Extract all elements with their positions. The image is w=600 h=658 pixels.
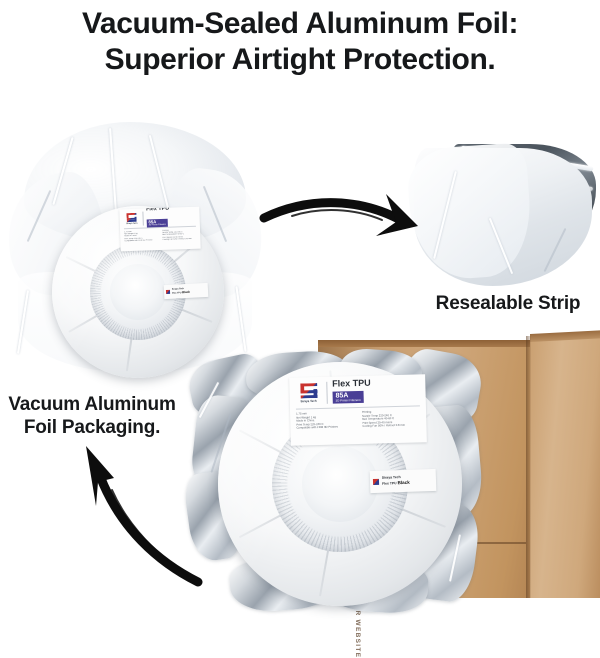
siraya-logo-mark-icon xyxy=(126,213,136,222)
siraya-logo-mark-icon xyxy=(166,290,170,294)
color-sticker-upper: Siraya Tech Flex TPU Black xyxy=(164,283,209,299)
headline-line-1: Vacuum-Sealed Aluminum Foil: xyxy=(82,7,518,40)
spec-column-left-upper: 1.75 mm Net Weight 1 kg Made in China Pr… xyxy=(124,230,158,243)
badge-subtitle-lower: 3D Printer Filament xyxy=(336,399,361,403)
color-sticker-lower: Siraya Tech Flex TPU Black xyxy=(370,469,437,493)
spool-hub-inner-lower xyxy=(302,446,378,522)
spool-hub-inner-upper xyxy=(110,264,166,320)
brand-name-lower: Siraya Tech xyxy=(301,399,317,403)
sticker-color-lower: Black xyxy=(397,480,409,485)
brand-name-upper: Siraya Tech xyxy=(126,223,137,225)
curved-arrow-right-icon xyxy=(258,192,428,274)
spec-column-right-upper: Printing Nozzle Temp 220-240 C Bed Tempe… xyxy=(162,228,196,241)
sticker-color-upper: Black xyxy=(182,289,190,293)
sticker-text-lower: Siraya Tech Flex TPU Black xyxy=(382,476,410,486)
label-divider-upper xyxy=(142,212,143,226)
product-marketing-image: Vacuum-Sealed Aluminum Foil: Superior Ai… xyxy=(0,0,600,624)
siraya-logo-mark-icon xyxy=(300,383,317,398)
box-corner-seam xyxy=(526,336,531,598)
headline-line-2: Superior Airtight Protection. xyxy=(0,42,600,78)
label-divider-lower xyxy=(326,382,328,404)
sticker-text-upper: Siraya Tech Flex TPU Black xyxy=(172,288,190,295)
caption-resealable-strip: Resealable Strip xyxy=(418,292,598,315)
durometer-badge-lower: 85A 3D Printer Filament xyxy=(332,391,363,404)
badge-subtitle-upper: 3D Printer Filament xyxy=(149,224,166,227)
siraya-logo-mark-icon xyxy=(373,479,379,485)
filament-spool-upper: Siraya Tech Flex TPU 85A 3D Printer Fila… xyxy=(52,206,224,378)
caption-vacuum-packaging: Vacuum Aluminum Foil Packaging. xyxy=(2,393,182,439)
page-title: Vacuum-Sealed Aluminum Foil: Superior Ai… xyxy=(0,6,600,78)
curved-arrow-up-left-icon xyxy=(66,436,206,586)
spec-column-right-lower: Printing Nozzle Temp 220-240 C Bed Tempe… xyxy=(362,409,421,428)
box-side-face xyxy=(530,336,600,598)
product-name-lower: Flex TPU xyxy=(332,376,419,388)
product-label-upper: Siraya Tech Flex TPU 85A 3D Printer Fila… xyxy=(119,207,200,252)
brand-logo-lower: Siraya Tech xyxy=(295,383,322,404)
box-top-edge xyxy=(318,340,530,347)
product-label-lower: Siraya Tech Flex TPU 85A 3D Printer Fila… xyxy=(289,374,427,446)
product-name-upper: Flex TPU xyxy=(146,207,195,213)
filament-spool-lower: Siraya Tech Flex TPU 85A 3D Printer Fila… xyxy=(218,362,462,606)
resealable-strip-closeup xyxy=(404,130,600,292)
spec-column-left-lower: 1.75 mm Net Weight 1 kg Made in China Pr… xyxy=(296,411,355,430)
brand-logo-upper: Siraya Tech xyxy=(123,213,139,225)
durometer-badge-upper: 85A 3D Printer Filament xyxy=(146,219,167,227)
